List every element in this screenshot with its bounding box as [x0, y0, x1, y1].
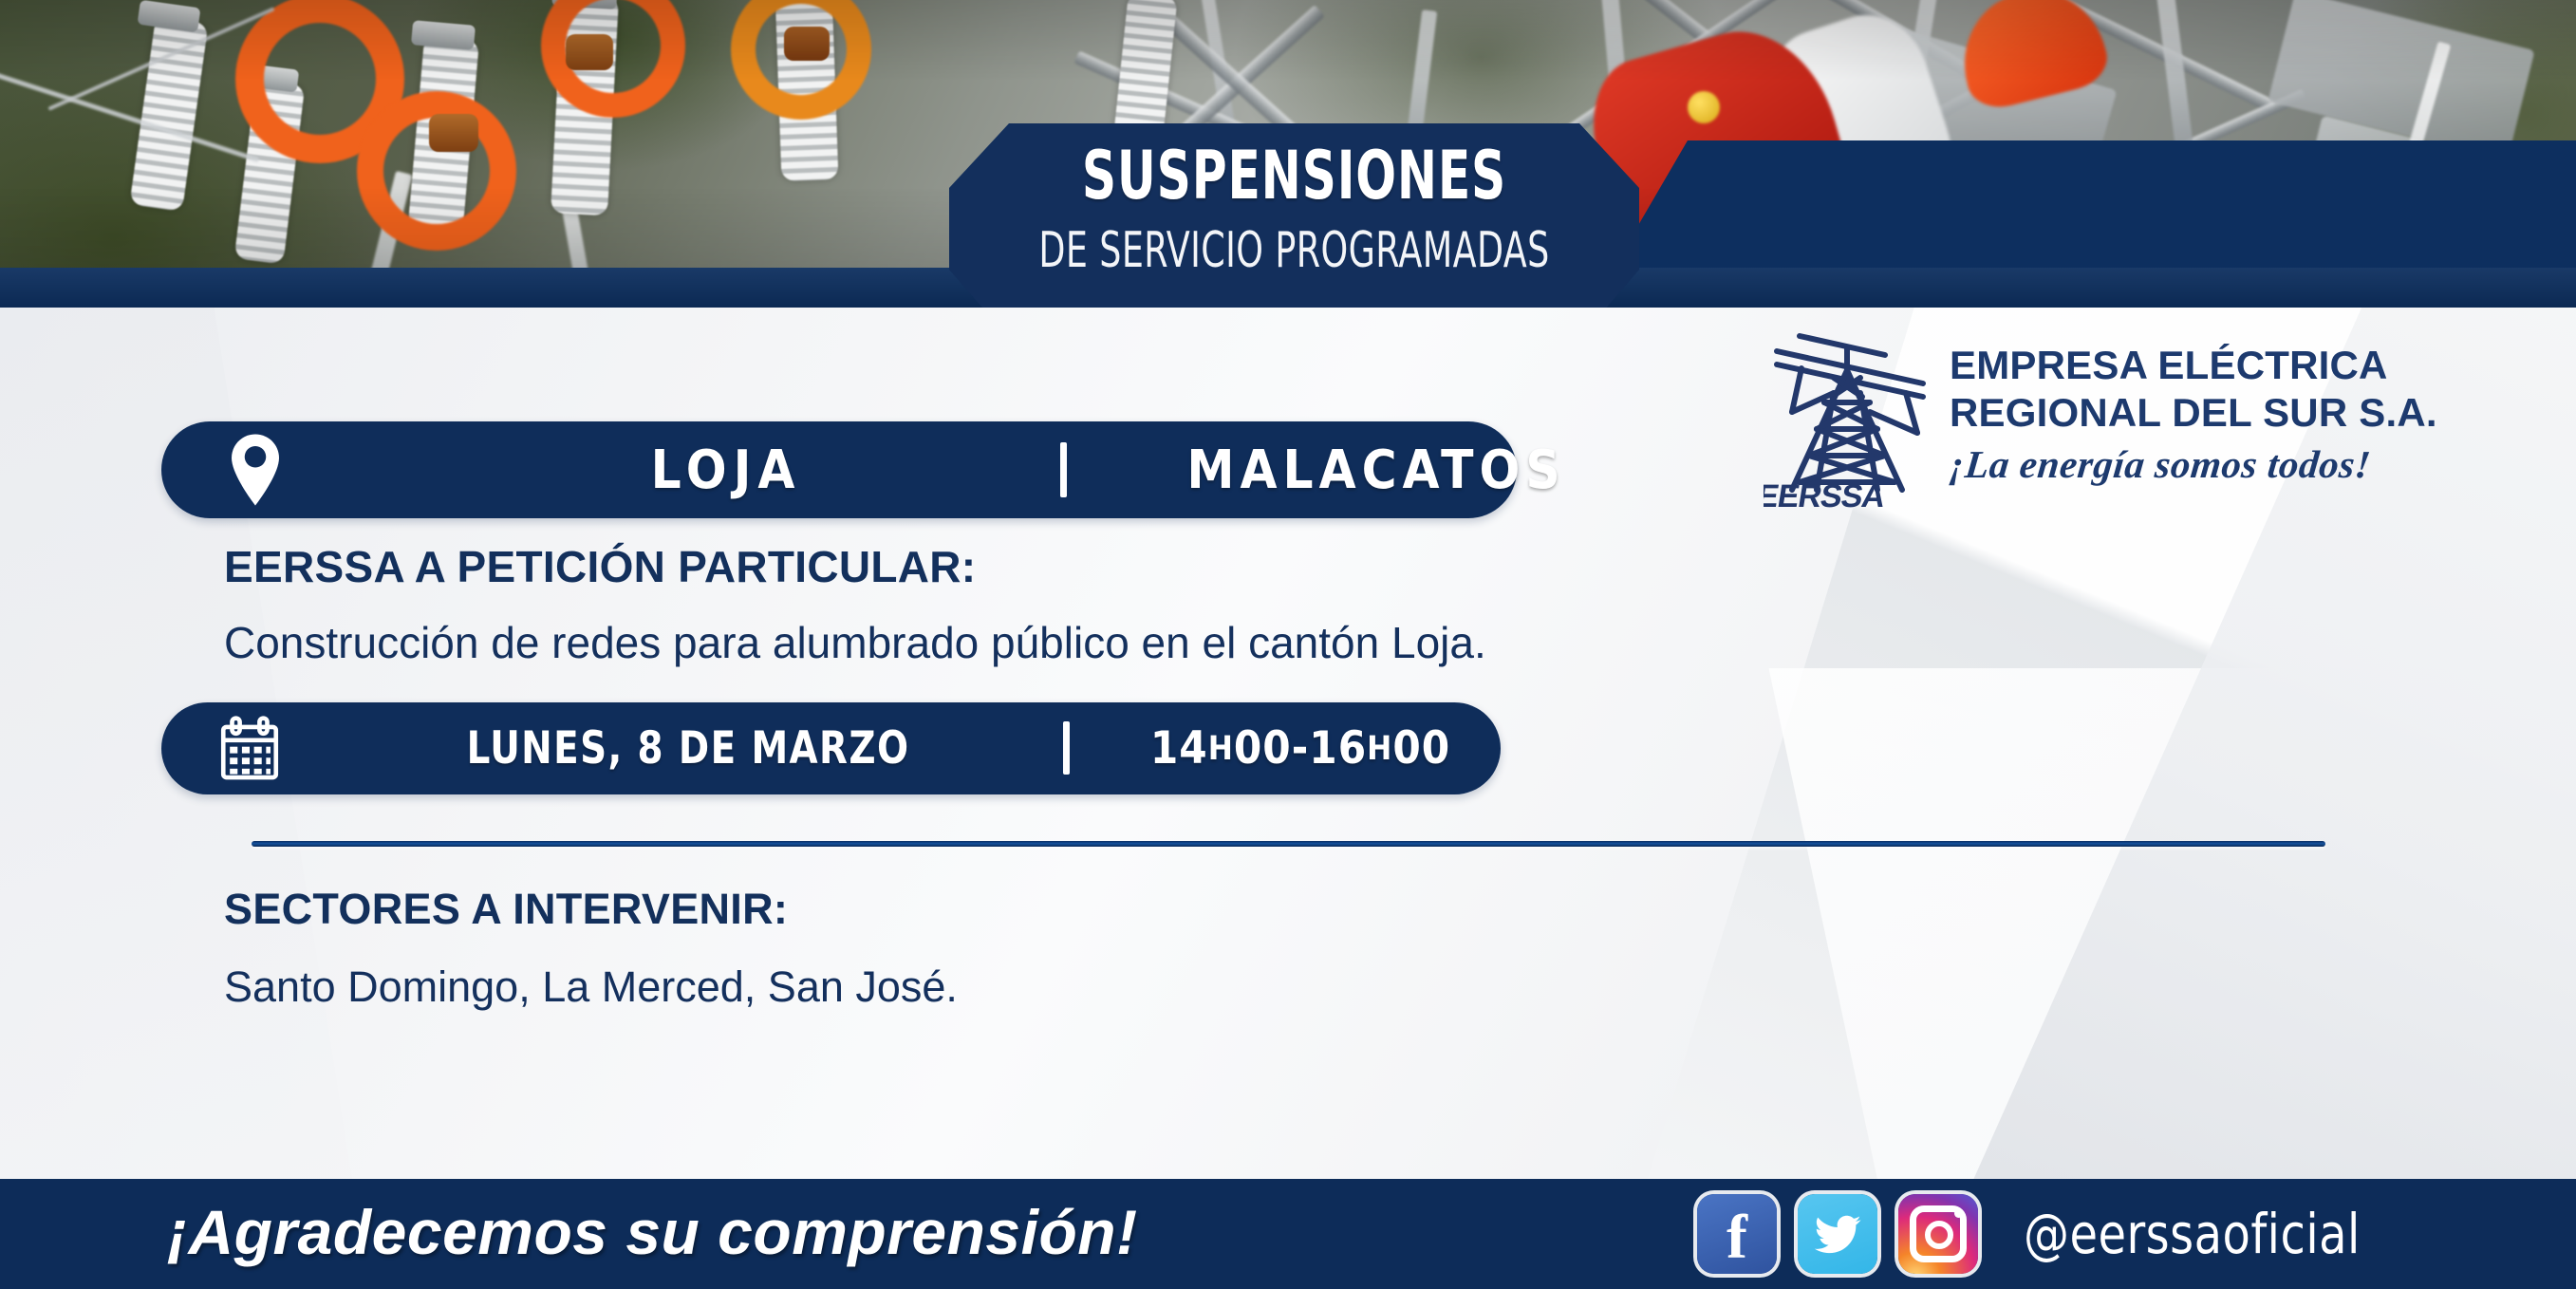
social-handle[interactable]: @eerssaoficial [2024, 1202, 2361, 1266]
facebook-glyph: f [1727, 1206, 1747, 1269]
instagram-icon[interactable] [1898, 1194, 1978, 1274]
title-plate: SUSPENSIONES DE SERVICIO PROGRAMADAS [949, 123, 1639, 337]
time-start-hour: 14 [1150, 722, 1208, 775]
location-canton: LOJA [465, 421, 987, 518]
sectors-list: Santo Domingo, La Merced, San José. [224, 962, 958, 1012]
suspension-time: 14H00 - 16H00 [1111, 702, 1490, 794]
section-divider [252, 841, 2325, 847]
logo-line-1: EMPRESA ELÉCTRICA [1950, 342, 2437, 389]
time-end-hour: 16 [1309, 722, 1367, 775]
request-description: Construcción de redes para alumbrado púb… [224, 617, 1486, 668]
calendar-icon [215, 716, 285, 782]
page-subtitle: DE SERVICIO PROGRAMADAS [1025, 222, 1563, 279]
footer-bar: ¡Agradecemos su comprensión! f @eerssaof… [0, 1179, 2576, 1289]
eerssa-logo: EERSSA EMPRESA ELÉCTRICA REGIONAL DEL SU… [1764, 330, 2371, 511]
map-pin-icon [218, 433, 292, 507]
twitter-icon[interactable] [1798, 1194, 1877, 1274]
time-end-min: 00 [1392, 722, 1450, 775]
page-title: SUSPENSIONES [1018, 137, 1571, 215]
time-end-h: H [1367, 730, 1392, 768]
social-links: f @eerssaoficial [1697, 1194, 2390, 1274]
svg-text:EERSSA: EERSSA [1764, 478, 1887, 511]
time-dash: - [1292, 722, 1310, 775]
location-pill[interactable]: LOJA MALACATOS [161, 421, 1517, 518]
facebook-icon[interactable]: f [1697, 1194, 1777, 1274]
logo-slogan: ¡La energía somos todos! [1947, 441, 2439, 487]
footer-tagline: ¡Agradecemos su comprensión! [167, 1196, 1138, 1268]
transmission-tower-icon: EERSSA [1764, 330, 1931, 511]
poster-canvas: SUSPENSIONES DE SERVICIO PROGRAMADAS [0, 0, 2576, 1289]
suspension-date: LUNES, 8 DE MARZO [369, 702, 1007, 794]
sectors-label: SECTORES A INTERVENIR: [224, 885, 788, 934]
request-label: EERSSA A PETICIÓN PARTICULAR: [224, 541, 976, 592]
logo-line-2: REGIONAL DEL SUR S.A. [1950, 389, 2437, 437]
location-parish: MALACATOS [1111, 421, 1642, 518]
date-separator [1063, 721, 1070, 775]
time-start-min: 00 [1234, 722, 1292, 775]
date-time-pill[interactable]: LUNES, 8 DE MARZO 14H00 - 16H00 [161, 702, 1501, 794]
time-start-h: H [1208, 730, 1234, 768]
location-separator [1060, 442, 1067, 497]
banner-wedge-right [1614, 140, 2576, 268]
logo-wordmark: EMPRESA ELÉCTRICA REGIONAL DEL SUR S.A. … [1950, 342, 2437, 487]
